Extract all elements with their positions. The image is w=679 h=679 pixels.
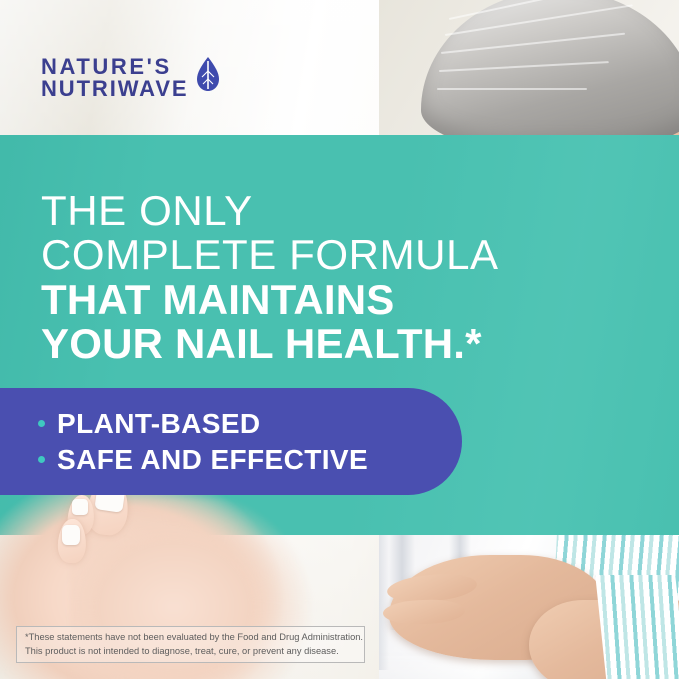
disclaimer-line-1: *These statements have not been evaluate…: [25, 631, 356, 645]
benefit-label: SAFE AND EFFECTIVE: [57, 444, 368, 476]
disclaimer-line-2: This product is not intended to diagnose…: [25, 645, 356, 659]
brand-logo-text: NATURE'S NUTRIWAVE: [41, 56, 188, 101]
benefit-label: PLANT-BASED: [57, 408, 261, 440]
disclaimer-box: *These statements have not been evaluate…: [16, 626, 365, 663]
hair-strand: [437, 88, 587, 90]
brand-name-line-1: NATURE'S: [41, 56, 188, 78]
headline-line-1: THE ONLY: [41, 189, 499, 233]
benefit-item: SAFE AND EFFECTIVE: [38, 444, 462, 476]
benefits-banner: PLANT-BASED SAFE AND EFFECTIVE: [0, 388, 462, 495]
headline-line-4: YOUR NAIL HEALTH.*: [41, 322, 499, 366]
benefit-item: PLANT-BASED: [38, 408, 462, 440]
bullet-dot-icon: [38, 420, 45, 427]
shirt-cuff: [595, 575, 679, 679]
leaf-icon: [197, 57, 219, 91]
headline-line-2: COMPLETE FORMULA: [41, 233, 499, 277]
headline-block: THE ONLY COMPLETE FORMULA THAT MAINTAINS…: [41, 189, 499, 366]
toenail: [72, 499, 88, 515]
brand-name-line-2: NUTRIWAVE: [41, 78, 188, 100]
toenail: [62, 525, 80, 545]
headline-line-3: THAT MAINTAINS: [41, 278, 499, 322]
bullet-dot-icon: [38, 456, 45, 463]
advertisement-banner: NATURE'S NUTRIWAVE THE ONLY COMPLETE FOR…: [0, 0, 679, 679]
brand-logo[interactable]: NATURE'S NUTRIWAVE: [41, 56, 219, 101]
